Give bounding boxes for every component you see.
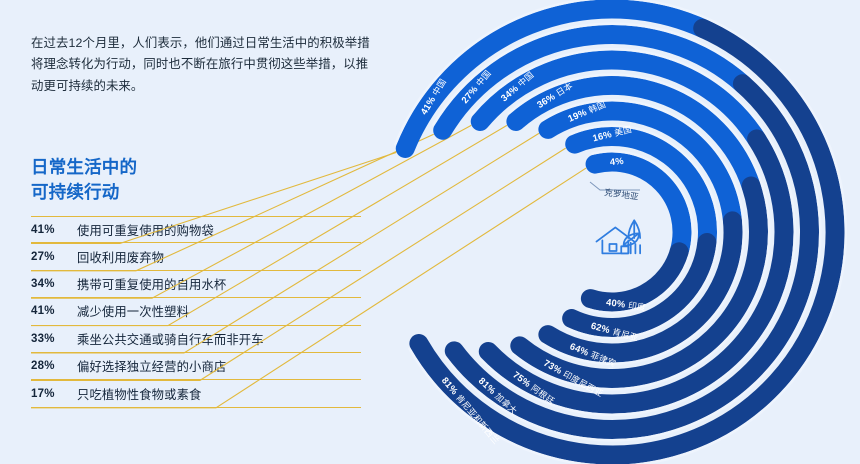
infographic-canvas: 在过去12个月里，人们表示，他们通过日常生活中的积极举措将理念转化为行动，同时也… (0, 0, 860, 464)
leader-line (31, 134, 434, 270)
eco-house-leaf-icon (596, 220, 640, 253)
croatia-outside-label: 克罗地亚 (604, 186, 640, 202)
leader-line (31, 153, 396, 244)
croatia-callout: 克罗地亚 (590, 182, 640, 202)
ring-low-label-percent: 4% (609, 155, 624, 167)
radial-bar-chart: 41%中国81%肯尼亚和新西兰27%中国81%加拿大34%中国75%阿根廷36%… (0, 0, 860, 464)
svg-text:4%: 4% (609, 155, 624, 167)
ring-segment-high (590, 252, 679, 302)
leader-line (31, 125, 507, 325)
ring-low-label: 4% (609, 155, 624, 167)
